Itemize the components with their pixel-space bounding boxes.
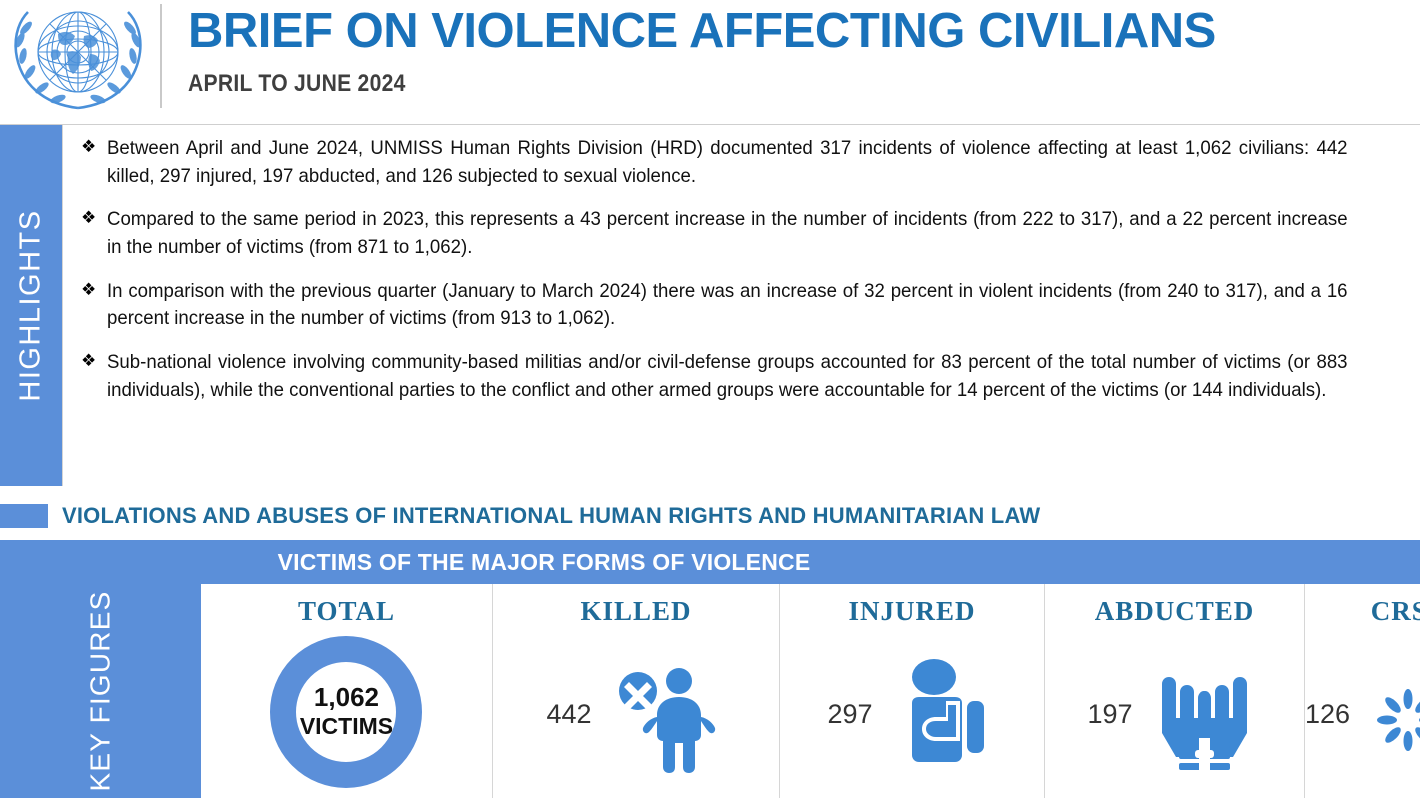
killed-value: 442: [546, 699, 591, 730]
person-with-arm-sling-icon: [887, 657, 997, 772]
page-title: BRIEF ON VIOLENCE AFFECTING CIVILIANS: [188, 6, 1216, 57]
reporting-period: APRIL TO JUNE 2024: [188, 70, 1092, 98]
crsv-value: 126: [1305, 699, 1350, 730]
key-figure-card-killed: KILLED 442: [493, 584, 780, 798]
card-title: ABDUCTED: [1095, 596, 1255, 627]
card-body: 442: [493, 631, 779, 798]
un-emblem-logo: [0, 0, 160, 120]
card-body: 297: [780, 631, 1044, 798]
abducted-value: 197: [1087, 699, 1132, 730]
victims-banner: VICTIMS OF THE MAJOR FORMS OF VIOLENCE: [0, 540, 1420, 584]
victims-banner-title: VICTIMS OF THE MAJOR FORMS OF VIOLENCE: [278, 549, 811, 576]
key-figure-card-total: TOTAL 1,062 VICTIMS: [201, 584, 493, 798]
highlights-section: HIGHLIGHTS ❖ Between April and June 2024…: [0, 124, 1420, 486]
donut-ring-icon: 1,062 VICTIMS: [270, 636, 422, 788]
diamond-bullet-icon: ❖: [73, 278, 107, 303]
bound-hands-icon: [1147, 655, 1262, 775]
total-unit: VICTIMS: [300, 713, 393, 739]
card-body: 126: [1305, 631, 1420, 798]
section-marker-icon: [0, 504, 48, 528]
woman-with-burst-icon: [1364, 655, 1420, 775]
key-figure-card-abducted: ABDUCTED 197: [1045, 584, 1305, 798]
violations-section-title: VIOLATIONS AND ABUSES OF INTERNATIONAL H…: [62, 503, 1040, 529]
header-text-block: BRIEF ON VIOLENCE AFFECTING CIVILIANS AP…: [162, 0, 1216, 98]
highlights-side-label-text: HIGHLIGHTS: [15, 209, 48, 401]
key-figure-card-crsv: CRSV 126: [1305, 584, 1420, 798]
card-title: TOTAL: [298, 596, 395, 627]
list-item: ❖ Between April and June 2024, UNMISS Hu…: [73, 135, 1406, 190]
key-figures-cards: TOTAL 1,062 VICTIMS KILLED 442: [201, 584, 1420, 798]
highlight-text: Compared to the same period in 2023, thi…: [107, 206, 1348, 261]
key-figures-side-label: KEY FIGURES: [0, 584, 201, 798]
key-figures-row: KEY FIGURES TOTAL 1,062 VICTIMS KILLED: [0, 584, 1420, 798]
highlight-text: Sub-national violence involving communit…: [107, 349, 1348, 404]
person-with-cross-icon: [606, 655, 726, 775]
list-item: ❖ Compared to the same period in 2023, t…: [73, 206, 1406, 261]
diamond-bullet-icon: ❖: [73, 349, 107, 374]
card-title: KILLED: [580, 596, 691, 627]
diamond-bullet-icon: ❖: [73, 206, 107, 231]
card-body: 1,062 VICTIMS: [201, 631, 492, 798]
list-item: ❖ In comparison with the previous quarte…: [73, 278, 1406, 333]
injured-value: 297: [827, 699, 872, 730]
list-item: ❖ Sub-national violence involving commun…: [73, 349, 1406, 404]
highlight-text: In comparison with the previous quarter …: [107, 278, 1348, 333]
brief-page: BRIEF ON VIOLENCE AFFECTING CIVILIANS AP…: [0, 0, 1420, 798]
key-figures-section: VICTIMS OF THE MAJOR FORMS OF VIOLENCE K…: [0, 540, 1420, 798]
page-header: BRIEF ON VIOLENCE AFFECTING CIVILIANS AP…: [0, 0, 1420, 120]
card-body: 197: [1045, 631, 1304, 798]
total-value: 1,062: [314, 683, 379, 713]
card-title: CRSV: [1371, 596, 1420, 627]
key-figures-side-label-text: KEY FIGURES: [84, 591, 116, 792]
violations-section-header: VIOLATIONS AND ABUSES OF INTERNATIONAL H…: [0, 494, 1420, 538]
key-figure-card-injured: INJURED 297: [780, 584, 1045, 798]
card-title: INJURED: [848, 596, 975, 627]
highlights-bullet-list: ❖ Between April and June 2024, UNMISS Hu…: [62, 125, 1420, 486]
highlights-side-label: HIGHLIGHTS: [0, 125, 62, 486]
highlight-text: Between April and June 2024, UNMISS Huma…: [107, 135, 1348, 190]
diamond-bullet-icon: ❖: [73, 135, 107, 160]
